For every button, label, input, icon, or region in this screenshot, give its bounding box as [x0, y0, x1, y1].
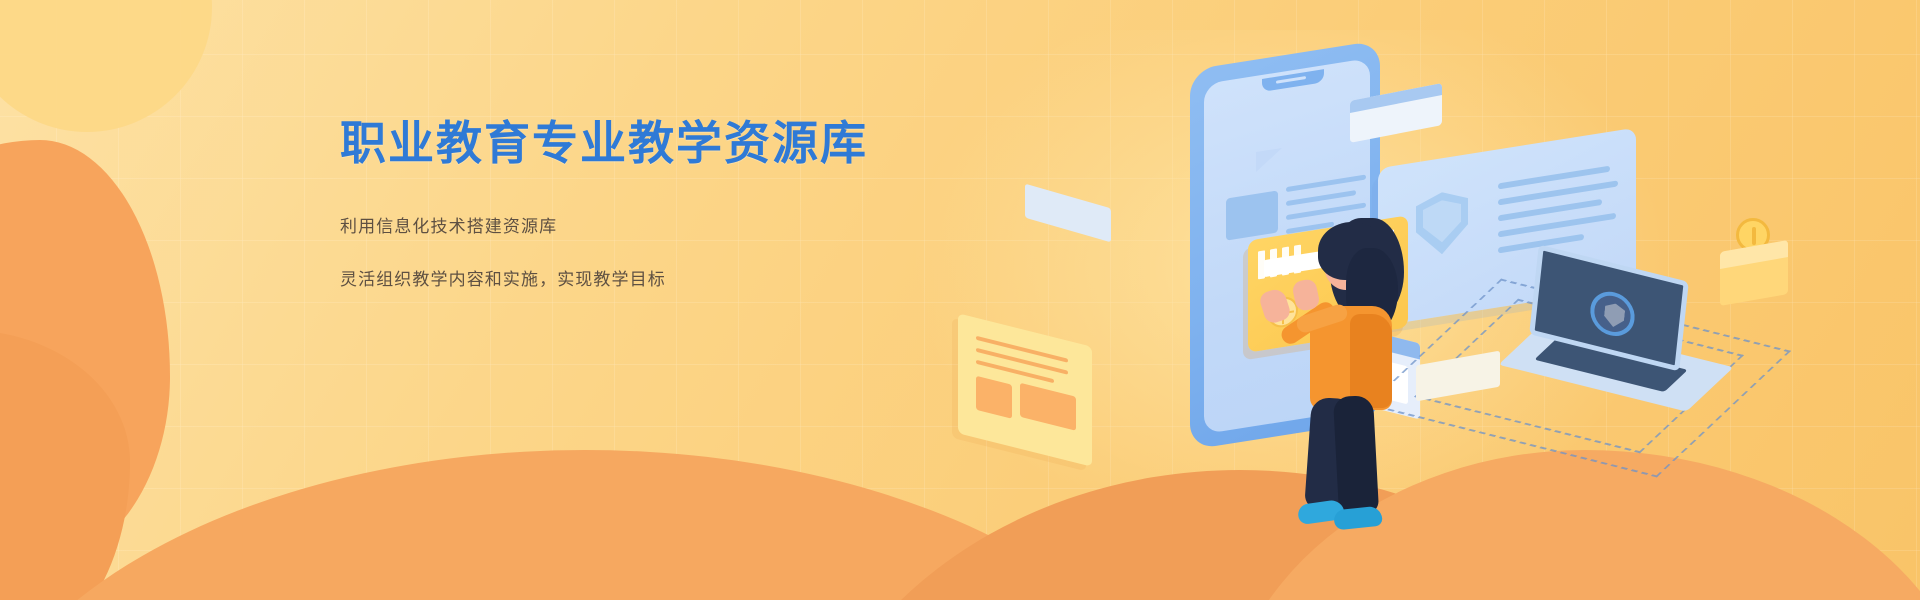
phone-notch	[1262, 69, 1324, 92]
hero-banner: 职业教育专业教学资源库 利用信息化技术搭建资源库 灵活组织教学内容和实施，实现教…	[0, 0, 1920, 600]
banner-text-block: 职业教育专业教学资源库 利用信息化技术搭建资源库 灵活组织教学内容和实施，实现教…	[340, 118, 868, 290]
decorative-blob-left	[0, 140, 170, 570]
person-shoe-right	[1333, 506, 1383, 531]
laptop-icon	[1528, 262, 1718, 402]
banner-title: 职业教育专业教学资源库	[340, 118, 868, 170]
decorative-circle	[0, 0, 212, 132]
decorative-bar-icon	[1025, 184, 1111, 243]
decorative-blob-left-lower	[0, 330, 130, 600]
speech-bubble-tail	[1256, 148, 1282, 172]
laptop-shield-icon	[1588, 287, 1637, 341]
screen-thumbnail	[1226, 190, 1278, 240]
person-torso-shade	[1350, 314, 1392, 408]
gift-box-icon	[1720, 240, 1788, 306]
banner-subtitle-line-1: 利用信息化技术搭建资源库	[340, 212, 868, 237]
person-legs	[1308, 398, 1384, 514]
document-card-icon	[958, 313, 1092, 466]
person-leg-right	[1333, 395, 1379, 515]
person-illustration	[1288, 218, 1468, 518]
hero-illustration	[1020, 0, 1920, 600]
banner-subtitle-line-2: 灵活组织教学内容和实施，实现教学目标	[340, 265, 868, 290]
